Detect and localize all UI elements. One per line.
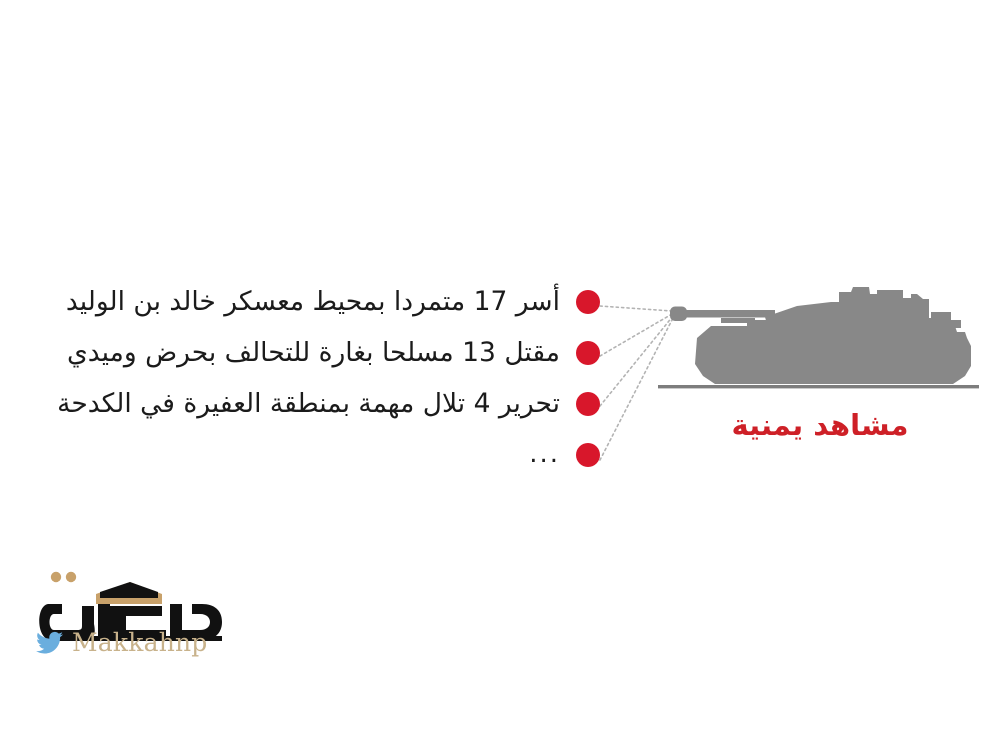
twitter-handle[interactable]: Makkahnp [36,628,208,657]
tank-silhouette-icon [655,268,1000,403]
illustration-caption: مشاهد يمنية [660,408,980,442]
list-item[interactable]: مقتل 13 مسلحا بغارة للتحالف بحرض وميدي [0,327,612,378]
twitter-bird-icon [36,631,64,655]
logo-dot-icon [66,572,76,582]
tank-muzzle-brake [670,307,687,322]
tank-fender [721,318,755,323]
ground-line [658,385,979,388]
bullet-dot-icon [576,443,600,467]
bullet-dot-icon [576,341,600,365]
list-item-label: أسر 17 متمردا بمحيط معسكر خالد بن الوليد [0,288,560,316]
twitter-handle-label: Makkahnp [72,628,208,657]
list-item-label: ... [0,441,560,468]
list-item-label: تحرير 4 تلال مهمة بمنطقة العفيرة في الكد… [0,390,560,418]
list-item[interactable]: تحرير 4 تلال مهمة بمنطقة العفيرة في الكد… [0,378,612,429]
bullet-dot-icon [576,290,600,314]
list-item[interactable]: أسر 17 متمردا بمحيط معسكر خالد بن الوليد [0,276,612,327]
infographic-canvas: أسر 17 متمردا بمحيط معسكر خالد بن الوليد… [0,0,1000,750]
logo-dot-icon [51,572,61,582]
bullet-dot-icon [576,392,600,416]
kaaba-cube-icon [100,582,158,598]
headline-list: أسر 17 متمردا بمحيط معسكر خالد بن الوليد… [0,276,612,480]
list-item-label: مقتل 13 مسلحا بغارة للتحالف بحرض وميدي [0,339,560,367]
tank-barrel [683,310,775,318]
list-item[interactable]: ... [0,429,612,480]
tank-hull [695,320,971,384]
